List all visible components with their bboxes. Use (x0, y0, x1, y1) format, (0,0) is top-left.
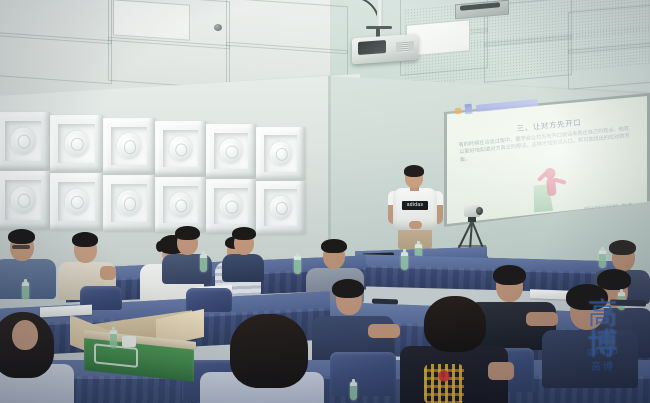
attendee-arm (368, 324, 400, 338)
wall-panel (256, 181, 305, 234)
attendee-patterned-top (400, 300, 508, 403)
ceiling-tile (108, 37, 230, 90)
wall-panel (0, 171, 50, 229)
wall-panel-rosette (11, 187, 36, 214)
wall-panel (256, 127, 305, 180)
attendee-navy-left (330, 282, 400, 356)
water-bottle (294, 256, 301, 274)
wall-panel (103, 118, 155, 174)
attendee-body (222, 254, 264, 282)
open-cardboard-box (76, 318, 200, 380)
paper-cup (122, 336, 136, 347)
slide-logo-orange-icon (455, 108, 462, 115)
closed-laptop (372, 299, 398, 305)
attendee-arm (100, 266, 116, 280)
attendee-body (542, 330, 638, 388)
smoke-detector-icon (214, 24, 222, 31)
wall-panel-rosette (117, 190, 141, 216)
attendee-navy-right-front (542, 286, 634, 386)
projector-cable (300, 0, 380, 24)
shirt-embroidered-pattern (424, 364, 464, 403)
attendee-hair (230, 314, 308, 388)
attendee-glasses-blue-shirt (0, 229, 62, 295)
attendee-hair (175, 226, 200, 240)
wall-panel-rosette (220, 194, 243, 219)
attendee-navy-polo (222, 230, 266, 274)
wall-corner (328, 76, 331, 262)
wall-panel-rosette (117, 133, 141, 159)
wall-panel-rosette (269, 195, 292, 219)
decorative-relief-panels (0, 108, 300, 236)
wall-panel (155, 121, 206, 176)
classroom-photo-scene: 三、让对方先开口 有的时候在洽谈过程中，要学会让对方先开口说话来表达自己的观点，… (0, 0, 650, 403)
attendee-hair (8, 229, 35, 244)
water-bottle (401, 252, 408, 270)
attendee-hair (566, 284, 608, 310)
water-bottle (22, 282, 29, 300)
speaker-at-podium-illustration (526, 164, 574, 214)
attendee-arm (488, 362, 514, 380)
classroom-chair (330, 352, 396, 396)
attendee-hair (609, 240, 636, 255)
water-bottle (350, 382, 357, 400)
ceiling-light-panel (113, 0, 190, 41)
attendee-hair (493, 265, 526, 285)
ceiling-tile (0, 32, 112, 85)
presenter-standing: adidas (385, 167, 447, 249)
wall-panel (0, 112, 50, 170)
attendee-hair (332, 279, 364, 298)
presenter-shirt-logo: adidas (402, 201, 428, 210)
attendee-long-hair-center (212, 318, 322, 403)
presenter-hair (404, 165, 424, 177)
attendee-hair (321, 239, 347, 253)
projector-vent (396, 41, 414, 52)
attendee-hair (232, 227, 256, 240)
wall-panel-rosette (11, 128, 36, 155)
wall-panel (103, 175, 155, 231)
wall-panel (206, 179, 256, 233)
attendee-hair (72, 232, 98, 247)
classroom-chair (186, 288, 232, 312)
wall-panel (50, 173, 103, 230)
attendee-long-hair-left (0, 312, 68, 403)
wall-panel (155, 177, 206, 232)
wall-panel (206, 124, 256, 178)
wall-panel-rosette (269, 141, 292, 165)
wall-panel (50, 115, 103, 172)
projector-lens-icon (358, 40, 386, 55)
eyeglasses-icon (12, 245, 30, 249)
attendee-hair (424, 296, 486, 352)
slide-logo-blue-icon (465, 104, 473, 115)
wall-panel-rosette (220, 139, 243, 164)
water-bottle (599, 250, 606, 268)
presenter-hands (409, 221, 422, 229)
water-bottle (200, 254, 207, 272)
camera-lens-icon (476, 207, 483, 215)
water-bottle (110, 330, 117, 348)
attendee-head (12, 320, 38, 350)
